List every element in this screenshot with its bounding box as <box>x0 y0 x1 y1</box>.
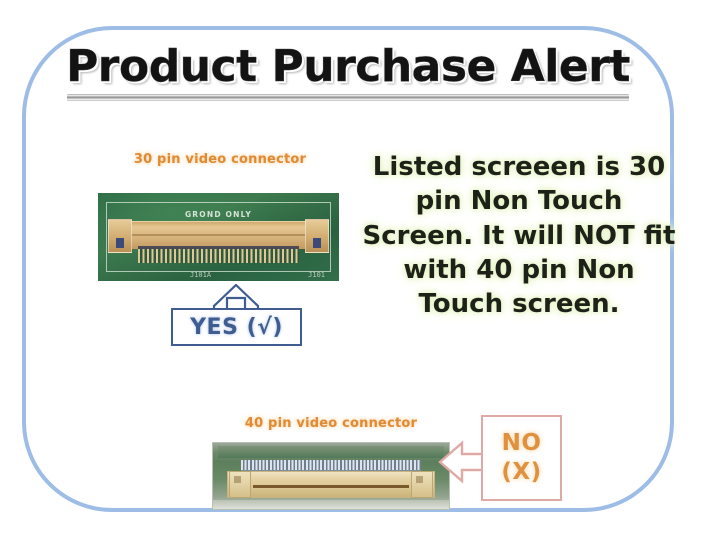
no-indicator-box: NO (X) <box>481 415 562 501</box>
connector-40-pin-row <box>241 460 421 471</box>
left-arrow-icon <box>438 436 486 488</box>
title-block: Product Purchase Alert <box>26 44 670 101</box>
pcb-label-ground-only: GROND ONLY <box>98 210 339 219</box>
pcb-code-left: J101A <box>190 271 211 279</box>
latch-pin <box>116 238 124 248</box>
connector-40-gold-body <box>227 471 435 498</box>
caption-40-pin-video-connector: 40 pin video connector <box>206 416 456 431</box>
connector-40-end-block-left <box>229 471 251 498</box>
title-underline-rule <box>67 94 629 101</box>
connector-30-latch-left <box>108 219 132 253</box>
connector-40-top-strip <box>218 446 444 458</box>
connector-30-gold-body <box>120 221 317 249</box>
yes-indicator-box: YES (√) <box>171 308 302 346</box>
pcb-code-right: J101 <box>308 271 325 279</box>
connector-30-pin-row <box>138 249 299 263</box>
no-label: NO <box>502 429 542 458</box>
connector-30-pin-photo: GROND ONLY J101A J101 <box>98 193 339 281</box>
yes-label: YES (√) <box>190 315 283 340</box>
connector-40-end-block-right <box>411 471 433 498</box>
caption-30-pin-video-connector: 30 pin video connector <box>100 152 340 167</box>
connector-40-slot <box>253 485 410 488</box>
main-message-text: Listed screeen is 30 pin Non Touch Scree… <box>360 150 678 322</box>
alert-card: Product Purchase Alert 30 pin video conn… <box>22 26 674 512</box>
connector-40-base-edge <box>213 500 449 509</box>
page-title: Product Purchase Alert <box>26 44 670 90</box>
connector-40-pin-photo <box>212 442 450 510</box>
cross-mark-icon: (X) <box>501 458 541 487</box>
latch-pin <box>313 238 321 248</box>
connector-30-latch-right <box>305 219 329 253</box>
